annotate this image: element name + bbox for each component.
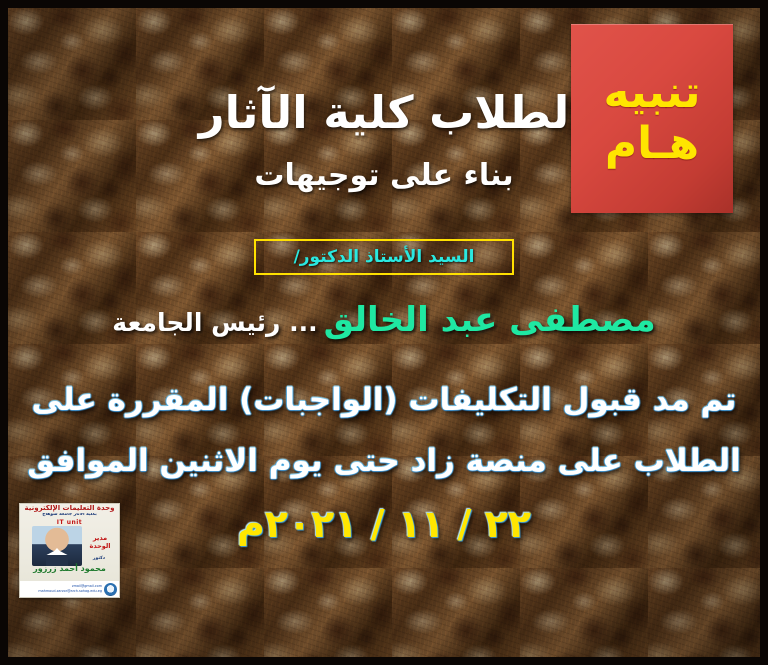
badge-unit-label: IT unit	[20, 519, 119, 526]
badge-footer: zmail@gmail.com mahmoud.zarzor@arch.soha…	[20, 581, 119, 597]
president-position: ... رئيس الجامعة	[112, 308, 317, 337]
badge-doctor-label: دكتور	[84, 556, 114, 561]
page-title: لطلاب كلية الآثار	[0, 86, 768, 139]
doctor-title-frame: السيد الأستاذ الدكتور/	[254, 239, 514, 275]
body-line-2: الطلاب على منصة زاد حتى يوم الاثنين المو…	[0, 443, 768, 479]
badge-role-label: مدير الوحدة	[84, 534, 116, 550]
doctor-title-text: السيد الأستاذ الدكتور/	[294, 247, 475, 267]
badge-email-2: mahmoud.zarzor@arch.sohag.edu.eg	[22, 589, 102, 594]
name-row: مصطفى عبد الخالق... رئيس الجامعة	[0, 300, 768, 340]
badge-portrait-photo	[32, 526, 82, 566]
badge-subtitle: بكلية الآثار جامعة سوهاج	[20, 513, 119, 518]
poster-content: تنبيه هـام لطلاب كلية الآثار بناء على تو…	[0, 0, 768, 665]
president-name: مصطفى عبد الخالق	[324, 300, 656, 340]
body-line-1: تم مد قبول التكليفات (الواجبات) المقررة …	[0, 382, 768, 418]
page-subtitle: بناء على توجيهات	[0, 158, 768, 193]
poster-root: تنبيه هـام لطلاب كلية الآثار بناء على تو…	[0, 0, 768, 665]
id-badge-card: وحدة التعليمات الإلكترونية بكلية الآثار …	[19, 503, 120, 598]
university-logo-icon	[104, 583, 117, 596]
badge-person-name: محمود أحمد زرزور	[20, 564, 119, 573]
badge-contact-block: zmail@gmail.com mahmoud.zarzor@arch.soha…	[22, 584, 102, 593]
badge-title: وحدة التعليمات الإلكترونية	[20, 505, 119, 513]
